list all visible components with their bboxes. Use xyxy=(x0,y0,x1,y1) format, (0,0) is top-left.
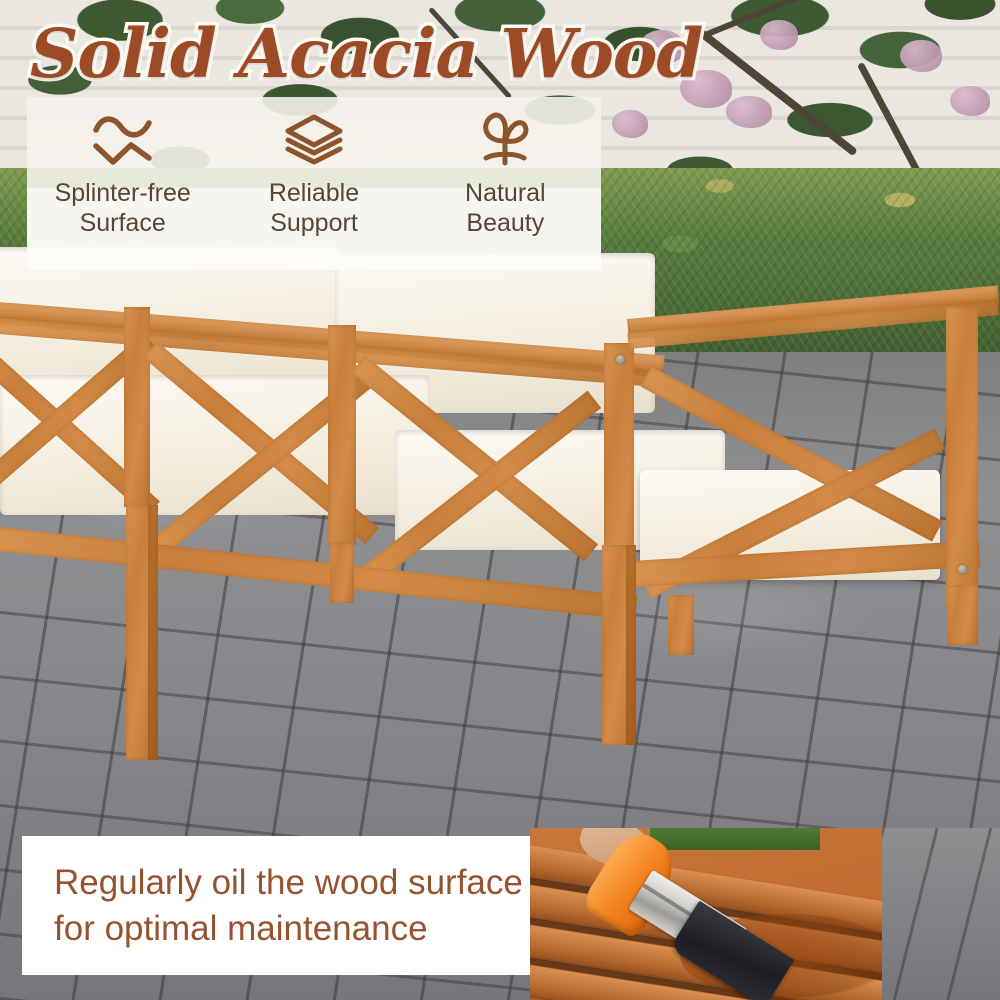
feature-highlights-panel: Splinter-free Surface Reliable Support xyxy=(27,97,601,270)
paint-brush xyxy=(570,834,810,994)
stacked-layers-icon xyxy=(282,109,346,171)
feature-label-line2: Beauty xyxy=(466,209,544,237)
blossom xyxy=(950,86,990,116)
sofa-leg xyxy=(330,543,354,603)
back-vertical-post xyxy=(328,325,356,545)
feature-label: Splinter-free Surface xyxy=(55,179,191,238)
feature-label-line2: Support xyxy=(270,209,358,237)
maintenance-caption-box: Regularly oil the wood surface for optim… xyxy=(22,836,534,975)
product-marketing-image: Solid Acacia Wood Splinter-free Surface xyxy=(0,0,1000,1000)
screw xyxy=(616,355,625,364)
feature-label: Natural Beauty xyxy=(465,179,546,238)
blossom xyxy=(612,110,648,138)
feature-label-line1: Splinter-free xyxy=(55,179,191,207)
sofa-leg-shadow-side xyxy=(626,545,636,745)
sofa-leg xyxy=(948,585,978,645)
oiling-inset-photo xyxy=(530,828,1000,1000)
feature-item-splinter-free: Splinter-free Surface xyxy=(27,97,218,270)
acacia-wood-sofa xyxy=(0,255,1000,775)
side-post-right xyxy=(946,307,978,607)
blossom xyxy=(760,20,798,50)
patio-stone-edge xyxy=(882,828,1000,1000)
caption-line1: Regularly oil the wood surface xyxy=(54,863,523,902)
feature-label-line2: Surface xyxy=(80,209,166,237)
sprout-plant-icon xyxy=(473,109,537,171)
wave-zigzag-icon xyxy=(91,109,155,171)
screw xyxy=(958,565,967,574)
maintenance-caption-text: Regularly oil the wood surface for optim… xyxy=(54,860,523,951)
back-vertical-post xyxy=(124,307,150,507)
feature-item-natural-beauty: Natural Beauty xyxy=(410,97,601,270)
page-title: Solid Acacia Wood xyxy=(30,14,702,93)
feature-label: Reliable Support xyxy=(269,179,359,238)
blossom xyxy=(900,40,942,72)
feature-label-line1: Natural xyxy=(465,179,546,207)
caption-line2: for optimal maintenance xyxy=(54,909,428,948)
feature-label-line1: Reliable xyxy=(269,179,359,207)
blossom xyxy=(726,96,772,128)
feature-item-reliable-support: Reliable Support xyxy=(218,97,409,270)
sofa-leg-shadow-side xyxy=(148,505,158,760)
sofa-leg xyxy=(668,595,694,655)
